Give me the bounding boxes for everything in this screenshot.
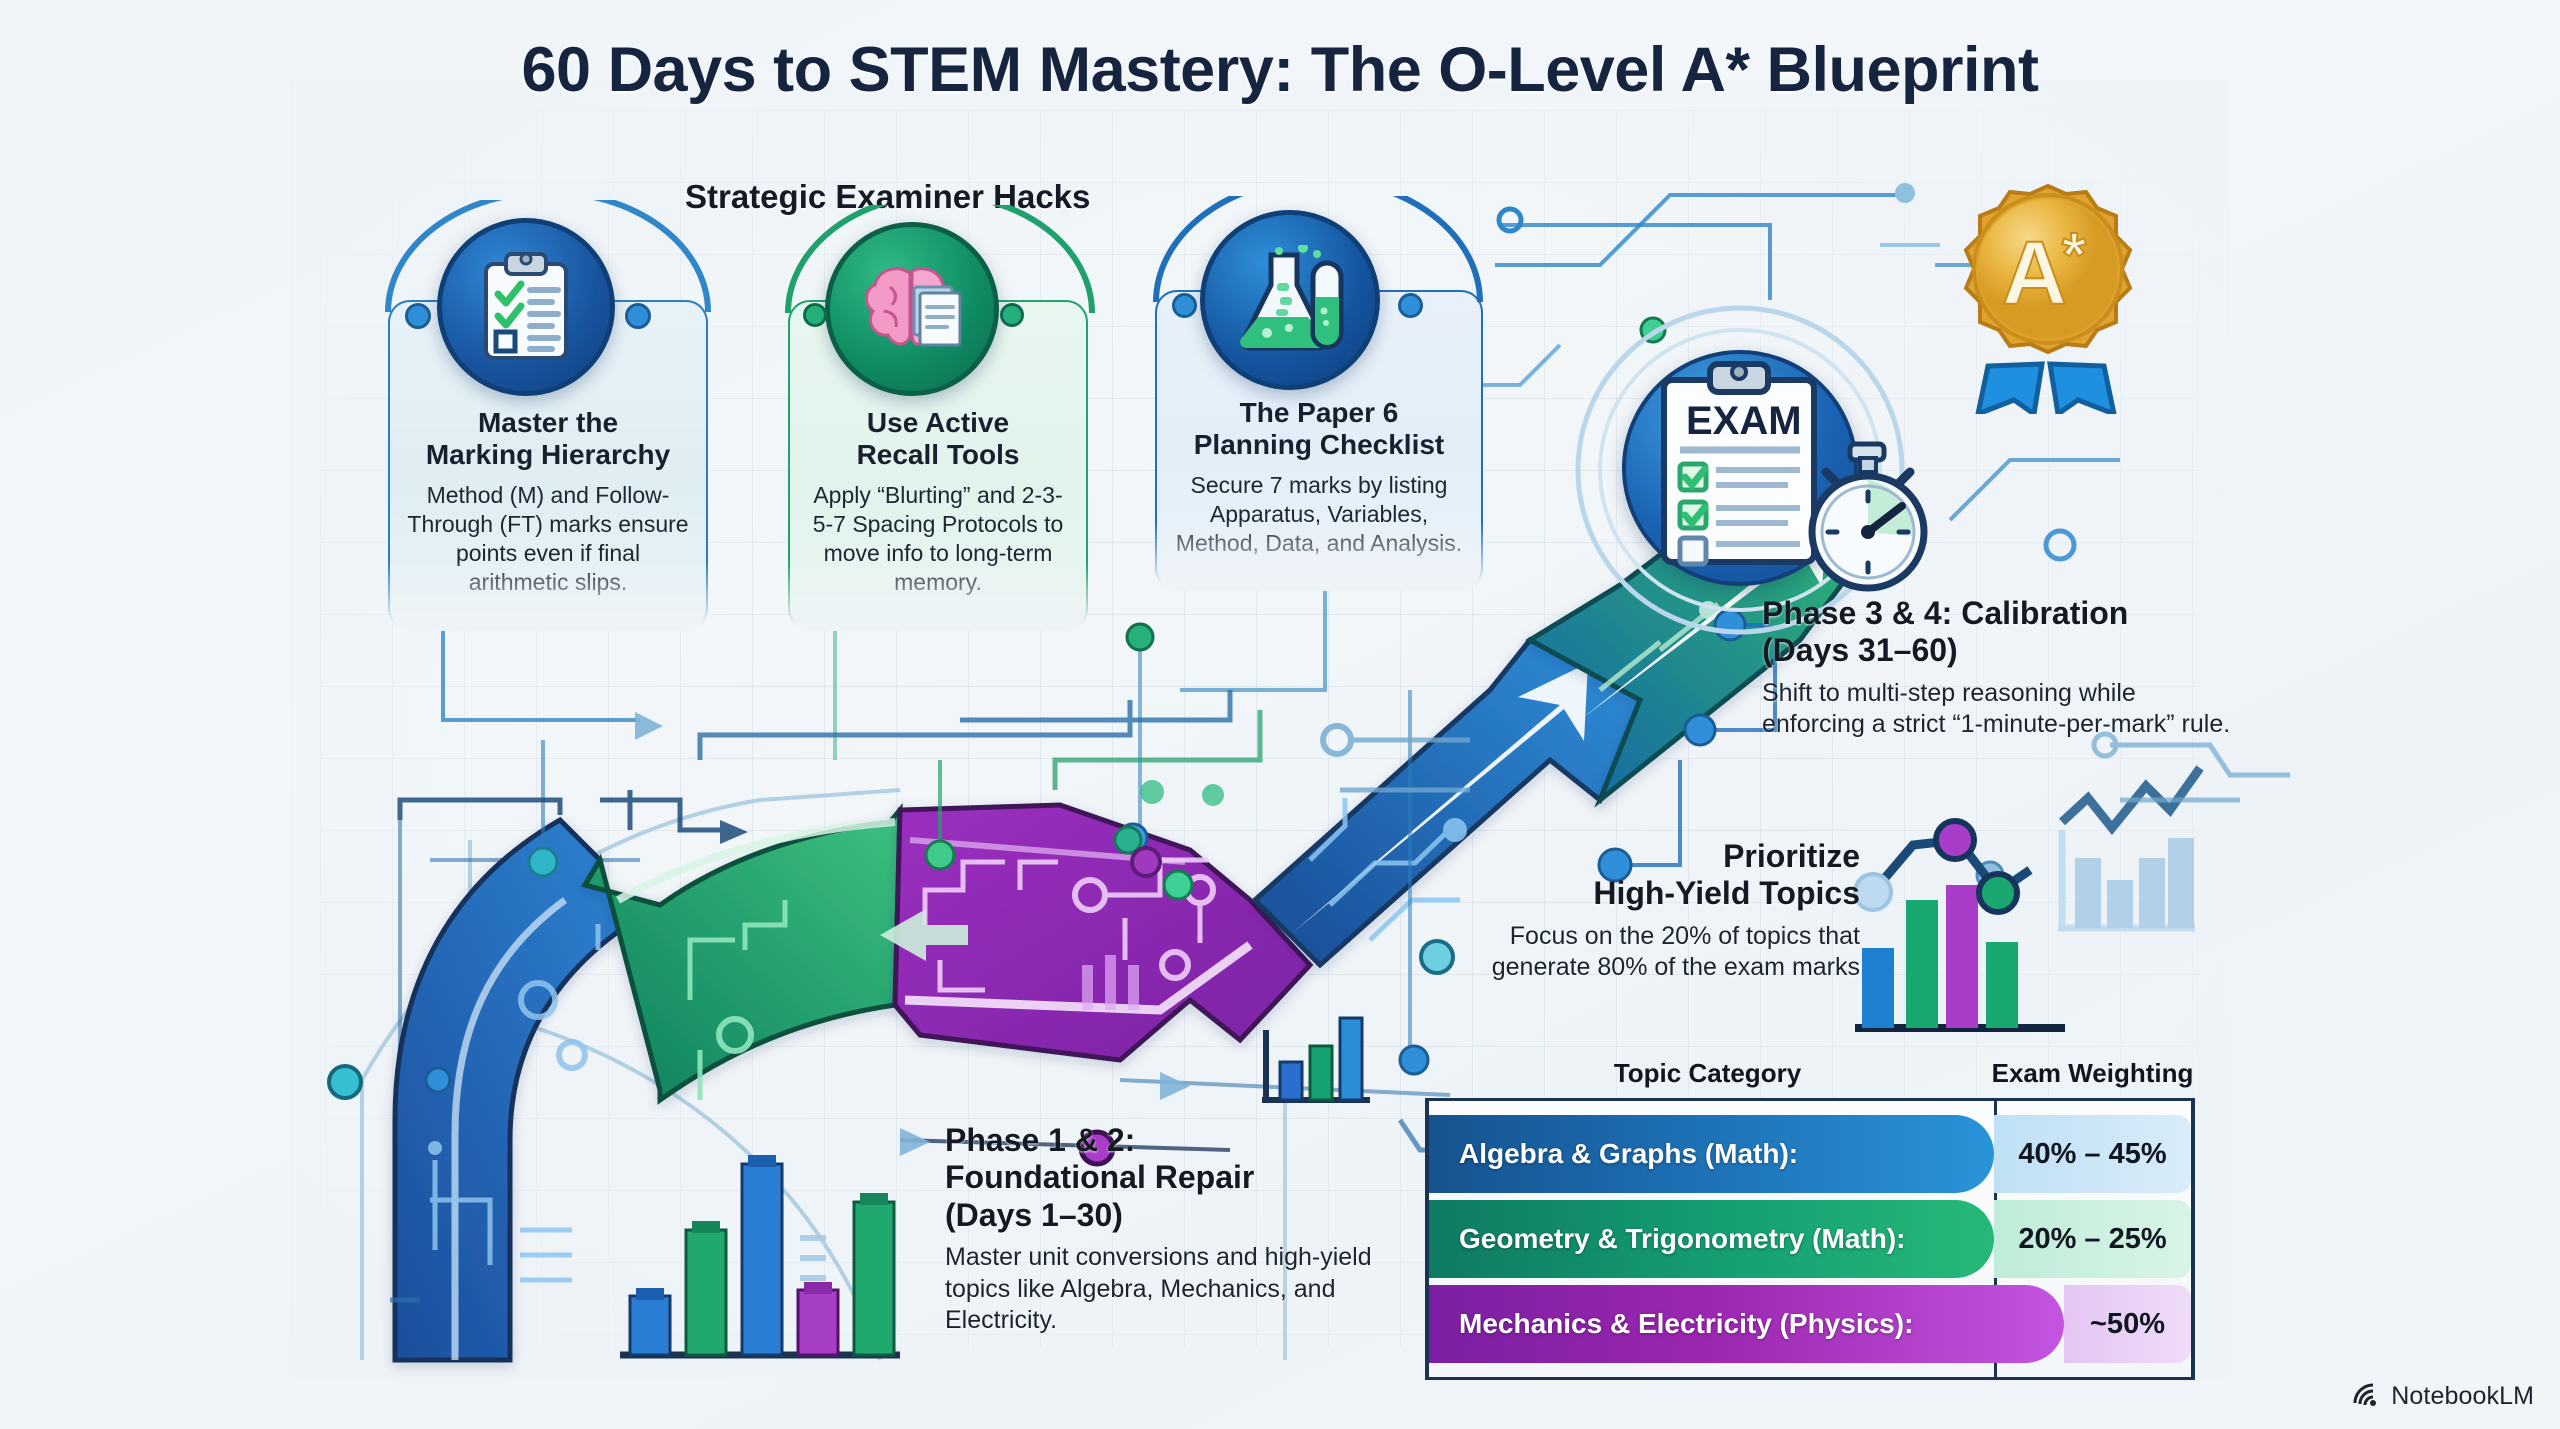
badge-label: A xyxy=(2002,224,2067,324)
card-node-right xyxy=(1000,303,1024,327)
hack-card-title: Use ActiveRecall Tools xyxy=(806,407,1070,472)
phase-12-block: Phase 1 & 2:Foundational Repair(Days 1–3… xyxy=(945,1122,1375,1337)
card-fade xyxy=(388,561,708,631)
watermark-label: NotebookLM xyxy=(2391,1382,2534,1411)
card-node-right xyxy=(1398,293,1423,318)
card-node-left xyxy=(1172,293,1197,318)
weighting-table: Topic Category Exam Weighting Algebra & … xyxy=(1425,1058,2195,1380)
infographic-canvas: 60 Days to STEM Mastery: The O-Level A* … xyxy=(0,0,2560,1429)
foundational-bar-chart xyxy=(620,1155,900,1355)
row-weight: 40% – 45% xyxy=(1994,1115,2191,1193)
table-row[interactable]: Mechanics & Electricity (Physics): ~50% xyxy=(1429,1285,2191,1363)
award-ribbon-icon: A * xyxy=(1930,178,2166,414)
column-header-weighting: Exam Weighting xyxy=(1990,1058,2195,1089)
card-fade xyxy=(788,561,1088,631)
phase-34-title: Phase 3 & 4: Calibration(Days 31–60) xyxy=(1762,595,2232,670)
row-weight: ~50% xyxy=(2064,1285,2191,1363)
card-node-left xyxy=(405,303,431,329)
prioritize-block: PrioritizeHigh-Yield Topics Focus on the… xyxy=(1450,838,1860,984)
row-weight: 20% – 25% xyxy=(1994,1200,2191,1278)
phase-12-body: Master unit conversions and high-yield t… xyxy=(945,1242,1375,1337)
prioritize-body: Focus on the 20% of topics that generate… xyxy=(1450,921,1860,984)
flask-testtube-icon xyxy=(1200,210,1380,390)
phase-34-block: Phase 3 & 4: Calibration(Days 31–60) Shi… xyxy=(1762,595,2232,741)
exam-label: EXAM xyxy=(1686,399,1802,443)
card-node-left xyxy=(803,303,827,327)
clipboard-checklist-icon xyxy=(437,218,615,396)
table-header-row: Topic Category Exam Weighting xyxy=(1425,1058,2195,1098)
hack-card-title: The Paper 6Planning Checklist xyxy=(1173,397,1465,462)
ghost-bar-chart xyxy=(2058,768,2200,928)
card-node-right xyxy=(625,303,651,329)
table-row[interactable]: Geometry & Trigonometry (Math): 20% – 25… xyxy=(1429,1200,2191,1278)
card-fade xyxy=(1155,521,1483,591)
row-category: Geometry & Trigonometry (Math): xyxy=(1429,1200,1994,1278)
row-category: Algebra & Graphs (Math): xyxy=(1429,1115,1994,1193)
stopwatch-icon xyxy=(1790,440,1950,600)
column-header-topic: Topic Category xyxy=(1425,1058,1990,1089)
table-body: Algebra & Graphs (Math): 40% – 45% Geome… xyxy=(1425,1098,2195,1380)
row-category: Mechanics & Electricity (Physics): xyxy=(1429,1285,2064,1363)
phase-12-title: Phase 1 & 2:Foundational Repair(Days 1–3… xyxy=(945,1122,1375,1234)
table-row[interactable]: Algebra & Graphs (Math): 40% – 45% xyxy=(1429,1115,2191,1193)
high-yield-bar-chart xyxy=(1855,821,2065,1028)
phase-34-body: Shift to multi-step reasoning while enfo… xyxy=(1762,678,2232,741)
prioritize-title: PrioritizeHigh-Yield Topics xyxy=(1450,838,1860,913)
svg-text:*: * xyxy=(2062,221,2087,290)
notebooklm-watermark: NotebookLM xyxy=(2351,1381,2534,1411)
brain-notes-icon xyxy=(825,222,999,396)
notebooklm-logo-icon xyxy=(2351,1381,2381,1411)
